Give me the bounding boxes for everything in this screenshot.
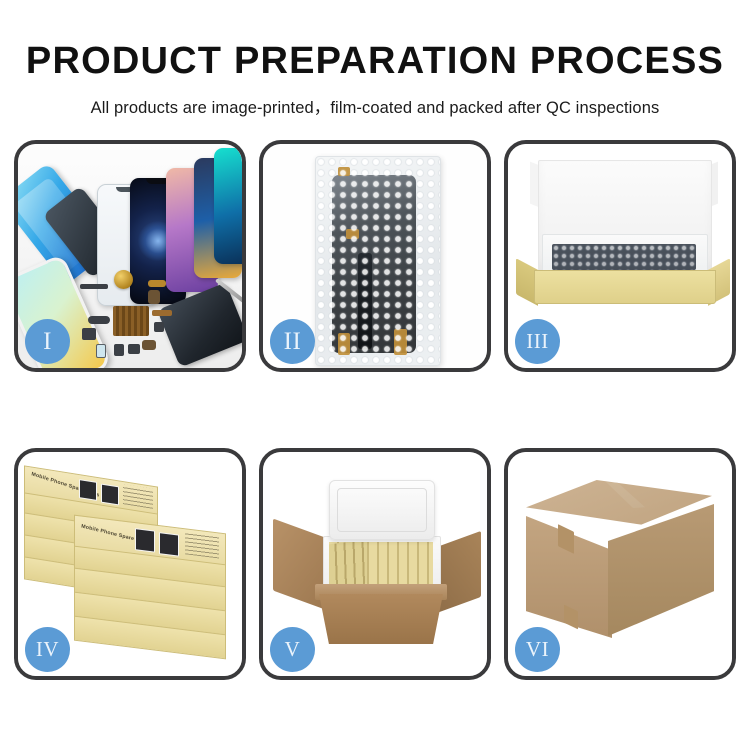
small-part-f — [152, 310, 172, 316]
packed-boxes-side-rows — [329, 542, 367, 586]
gold-tape-d — [394, 329, 407, 355]
small-part-i — [128, 344, 140, 354]
box-window-front-1 — [135, 528, 155, 552]
small-part-j — [96, 344, 106, 358]
teal-gradient-phone — [214, 148, 242, 264]
process-step-panel-5: V — [259, 448, 491, 680]
box-spec-lines-front — [185, 532, 219, 558]
page-subtitle: All products are image-printed，film-coat… — [0, 94, 750, 118]
product-preparation-infographic: PRODUCT PREPARATION PROCESS All products… — [0, 0, 750, 750]
step-badge-1: I — [25, 319, 70, 364]
box-window-rear-1 — [79, 479, 97, 501]
bubble-wrap-bag — [315, 156, 441, 366]
step-badge-4: IV — [25, 627, 70, 672]
step-badge-6: VI — [515, 627, 560, 672]
process-step-grid: I II — [14, 140, 736, 680]
small-part-h — [114, 344, 124, 356]
small-part-g — [154, 322, 164, 332]
small-part-k — [142, 340, 156, 350]
step-badge-3: III — [515, 319, 560, 364]
process-step-panel-1: I — [14, 140, 246, 372]
gold-tape-a — [338, 167, 350, 176]
box-window-rear-2 — [101, 484, 119, 506]
small-part-e — [82, 328, 96, 340]
small-part-c — [148, 290, 160, 304]
wrapped-flex-cable — [358, 253, 372, 349]
packed-boxes-inside — [329, 542, 433, 586]
page-title: PRODUCT PREPARATION PROCESS — [0, 42, 750, 80]
process-step-panel-2: II — [259, 140, 491, 372]
box-spec-lines-rear — [123, 484, 153, 509]
bubble-wrapped-contents — [552, 244, 696, 270]
header: PRODUCT PREPARATION PROCESS All products… — [0, 0, 750, 118]
logic-board-chip — [113, 306, 149, 336]
process-step-panel-4: Mobile Phone Spare Parts Mobile Phone Sp… — [14, 448, 246, 680]
carton-body — [319, 594, 443, 644]
speaker-module-icon — [114, 270, 133, 289]
process-step-panel-6: VI — [504, 448, 736, 680]
small-part-a — [80, 284, 108, 289]
gold-tape-b — [346, 229, 359, 239]
box-window-front-2 — [159, 532, 179, 556]
process-step-panel-3: III — [504, 140, 736, 372]
step-badge-2: II — [270, 319, 315, 364]
step-badge-5: V — [270, 627, 315, 672]
inner-box-yellow-front — [534, 270, 716, 304]
wrapped-screen-assembly — [332, 175, 416, 353]
sealed-carton-side — [608, 504, 714, 636]
small-part-d — [88, 316, 110, 324]
foam-lid — [329, 480, 435, 540]
small-part-b — [148, 280, 166, 287]
gold-tape-c — [338, 333, 350, 355]
